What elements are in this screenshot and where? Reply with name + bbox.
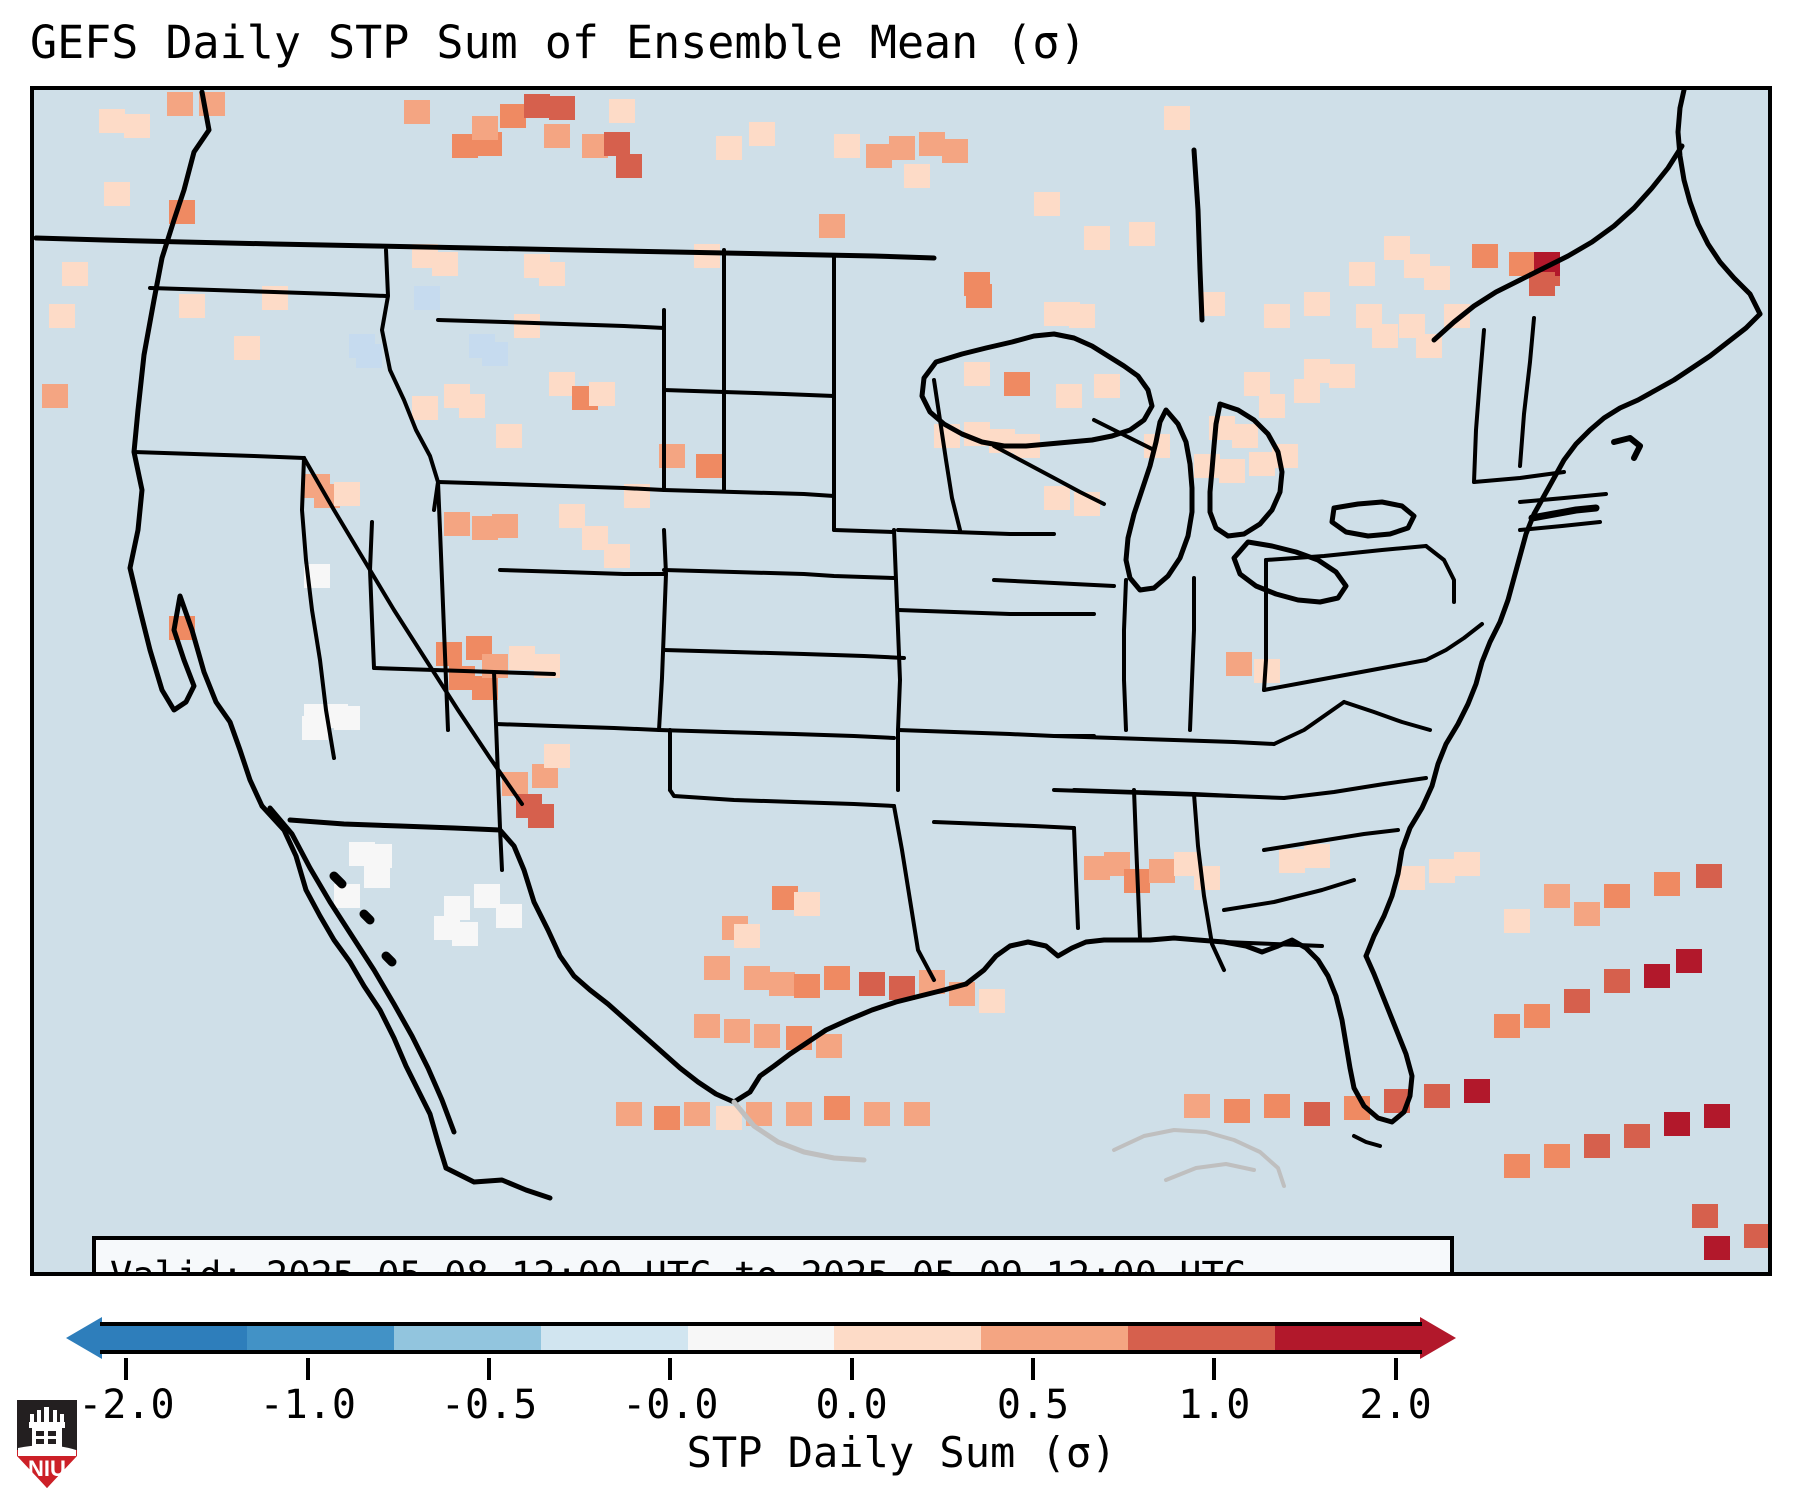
colorbar-tick-1 — [306, 1358, 310, 1380]
colorbar-bands[interactable] — [100, 1322, 1422, 1354]
data-cell — [1044, 302, 1070, 326]
data-cell — [432, 252, 458, 276]
data-cell — [794, 892, 820, 916]
data-cell — [1704, 1104, 1730, 1128]
data-cell — [1279, 849, 1305, 873]
data-cell — [1056, 384, 1082, 408]
data-cell — [604, 544, 630, 568]
data-cell — [1424, 1084, 1450, 1108]
data-cell — [1094, 374, 1120, 398]
colorbar-tick-label-4: 0.0 — [816, 1382, 888, 1428]
data-cell — [824, 1096, 850, 1120]
data-cell — [124, 114, 150, 138]
data-cell — [1604, 969, 1630, 993]
data-cell — [704, 956, 730, 980]
data-cell — [436, 642, 462, 666]
data-cell — [819, 214, 845, 238]
data-cell — [1219, 459, 1245, 483]
data-cell — [1259, 394, 1285, 418]
info-box: Valid: 2025-05-08 12:00 UTC to 2025-05-0… — [92, 1236, 1454, 1276]
data-cell — [482, 342, 508, 366]
data-cell — [754, 1024, 780, 1048]
data-cell — [549, 96, 575, 120]
data-cell — [696, 454, 722, 478]
data-cell — [42, 384, 68, 408]
data-cell — [904, 164, 930, 188]
data-cell — [1244, 372, 1270, 396]
data-cell — [1264, 304, 1290, 328]
data-cell — [684, 1102, 710, 1126]
data-cell — [786, 1102, 812, 1126]
colorbar-tick-0 — [124, 1358, 128, 1380]
data-cell — [1644, 964, 1670, 988]
data-cell — [1304, 844, 1330, 868]
data-cell — [472, 116, 498, 140]
data-cell — [539, 262, 565, 286]
data-cell — [544, 744, 570, 768]
colorbar-tick-7 — [1394, 1358, 1398, 1380]
data-cell — [1654, 872, 1680, 896]
data-cell — [500, 104, 526, 128]
data-cell — [1224, 1099, 1250, 1123]
data-cell — [889, 136, 915, 160]
colorbar-band-4 — [688, 1326, 835, 1350]
data-cell — [1329, 364, 1355, 388]
data-cell — [1564, 989, 1590, 1013]
data-cell — [1574, 902, 1600, 926]
data-cell — [1349, 262, 1375, 286]
data-cell — [1034, 192, 1060, 216]
data-cell — [514, 314, 540, 338]
data-cell — [1044, 486, 1070, 510]
data-cell — [99, 109, 125, 133]
colorbar-axis-label: STP Daily Sum (σ) — [0, 1428, 1803, 1477]
data-cell — [544, 124, 570, 148]
data-cell — [1472, 244, 1498, 268]
data-cell — [866, 144, 892, 168]
colorbar-tick-label-5: 0.5 — [997, 1382, 1069, 1428]
data-cell — [559, 504, 585, 528]
data-cell — [496, 904, 522, 928]
colorbar-band-0 — [100, 1326, 247, 1350]
colorbar[interactable]: -2.0-1.0-0.5-0.00.00.51.02.0 — [0, 1286, 1803, 1406]
valid-time-label: Valid: 2025-05-08 12:00 UTC to 2025-05-0… — [110, 1250, 1450, 1276]
data-cell — [654, 1106, 680, 1130]
data-cell — [694, 244, 720, 268]
data-cell — [1294, 379, 1320, 403]
colorbar-band-1 — [247, 1326, 394, 1350]
data-cell — [1454, 852, 1480, 876]
map-canvas — [34, 90, 1768, 1272]
data-cell — [1372, 324, 1398, 348]
data-cell — [1129, 222, 1155, 246]
data-cell — [864, 1102, 890, 1126]
data-cell — [496, 424, 522, 448]
data-cell — [589, 382, 615, 406]
data-cell — [979, 989, 1005, 1013]
data-cell — [724, 1019, 750, 1043]
colorbar-tick-2 — [487, 1358, 491, 1380]
data-cell — [404, 100, 430, 124]
colorbar-tick-5 — [1031, 1358, 1035, 1380]
data-cell — [749, 122, 775, 146]
data-cell — [1249, 452, 1275, 476]
data-cell — [1504, 909, 1530, 933]
data-cell — [1149, 859, 1175, 883]
data-cell — [1524, 1004, 1550, 1028]
data-cell — [1544, 1144, 1570, 1168]
colorbar-under-arrow — [66, 1317, 102, 1359]
data-cell — [716, 136, 742, 160]
data-cell — [1264, 1094, 1290, 1118]
data-cell — [1544, 884, 1570, 908]
data-cell — [549, 372, 575, 396]
data-cell — [1194, 454, 1220, 478]
data-cell — [334, 884, 360, 908]
data-cell — [459, 394, 485, 418]
data-cell — [1399, 866, 1425, 890]
colorbar-tick-label-0: -2.0 — [78, 1382, 174, 1428]
data-cell — [769, 972, 795, 996]
colorbar-band-5 — [834, 1326, 981, 1350]
data-cell — [234, 336, 260, 360]
data-cell — [414, 286, 440, 310]
data-cell — [1696, 864, 1722, 888]
data-cell — [966, 284, 992, 308]
data-cell — [604, 132, 630, 156]
data-cell — [349, 842, 375, 866]
data-cell — [1424, 266, 1450, 290]
data-cell — [1164, 106, 1190, 130]
colorbar-over-arrow — [1420, 1317, 1456, 1359]
data-cell — [942, 139, 968, 163]
colorbar-band-2 — [394, 1326, 541, 1350]
data-cell — [824, 966, 850, 990]
data-cell — [412, 396, 438, 420]
data-cell — [509, 646, 535, 670]
data-cell — [444, 512, 470, 536]
colorbar-tick-label-1: -1.0 — [260, 1382, 356, 1428]
data-cell — [1304, 1102, 1330, 1126]
data-cell — [734, 924, 760, 948]
colorbar-tick-label-6: 1.0 — [1178, 1382, 1250, 1428]
data-cell — [1504, 1154, 1530, 1178]
data-cell — [1084, 226, 1110, 250]
data-cell — [1232, 424, 1258, 448]
data-cell — [1624, 1124, 1650, 1148]
colorbar-tick-label-3: -0.0 — [622, 1382, 718, 1428]
niu-logo: NIU — [14, 1398, 80, 1490]
data-cell — [1184, 1094, 1210, 1118]
data-cell — [49, 304, 75, 328]
colorbar-tick-label-7: 2.0 — [1359, 1382, 1431, 1428]
colorbar-band-8 — [1275, 1326, 1422, 1350]
data-cell — [1004, 372, 1030, 396]
data-cell — [834, 134, 860, 158]
data-cell — [179, 294, 205, 318]
data-cell — [794, 974, 820, 998]
data-cell — [262, 286, 288, 310]
data-cell — [1704, 1236, 1730, 1260]
data-cell — [964, 362, 990, 386]
page-title: GEFS Daily STP Sum of Ensemble Mean (σ) — [30, 10, 1770, 76]
data-cell — [616, 154, 642, 178]
data-cell — [1304, 292, 1330, 316]
niu-logo-text: NIU — [28, 1456, 66, 1481]
data-cell — [492, 514, 518, 538]
data-cell — [816, 1034, 842, 1058]
data-cell — [1226, 652, 1252, 676]
colorbar-tick-3 — [668, 1358, 672, 1380]
data-cell — [1494, 1014, 1520, 1038]
data-cell — [1664, 1112, 1690, 1136]
data-cell — [1604, 884, 1630, 908]
data-cell — [859, 972, 885, 996]
colorbar-band-6 — [981, 1326, 1128, 1350]
data-cell — [609, 99, 635, 123]
data-cell — [1676, 949, 1702, 973]
data-cell — [167, 92, 193, 116]
data-cell — [1464, 1079, 1490, 1103]
map-plot-area[interactable]: Valid: 2025-05-08 12:00 UTC to 2025-05-0… — [30, 86, 1772, 1276]
data-cell — [452, 922, 478, 946]
data-cell — [62, 262, 88, 286]
data-cell — [1692, 1204, 1718, 1228]
data-cell — [1069, 304, 1095, 328]
data-cell — [334, 482, 360, 506]
data-cell — [1584, 1134, 1610, 1158]
data-cell — [528, 804, 554, 828]
data-cell — [616, 1102, 642, 1126]
data-cell — [694, 1014, 720, 1038]
colorbar-band-3 — [541, 1326, 688, 1350]
data-cell — [364, 864, 390, 888]
data-cell — [1429, 859, 1455, 883]
colorbar-tick-label-2: -0.5 — [441, 1382, 537, 1428]
colorbar-band-7 — [1128, 1326, 1275, 1350]
colorbar-tick-4 — [850, 1358, 854, 1380]
data-cell — [1744, 1224, 1768, 1248]
data-cell — [1194, 866, 1220, 890]
data-cell — [904, 1102, 930, 1126]
colorbar-tick-6 — [1212, 1358, 1216, 1380]
data-cell — [104, 182, 130, 206]
data-cell — [524, 94, 550, 118]
data-cell — [356, 344, 382, 368]
data-cell — [744, 966, 770, 990]
data-cell — [919, 132, 945, 156]
